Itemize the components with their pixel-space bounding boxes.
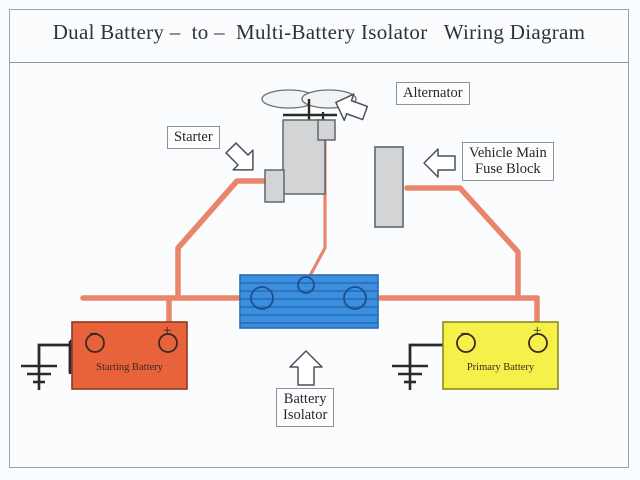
starting-battery-positive-mark: + <box>163 324 171 339</box>
label-fuse-block: Vehicle Main Fuse Block <box>462 142 554 181</box>
alternator-output-terminal <box>318 120 335 140</box>
starting-battery-label: Starting Battery <box>72 362 187 373</box>
wire-fuseblock-to-bus <box>407 188 518 298</box>
label-battery-isolator: Battery Isolator <box>276 388 334 427</box>
label-starter: Starter <box>167 126 220 149</box>
starter-body <box>265 170 284 202</box>
ground-symbol-right <box>392 366 428 390</box>
arrow-starter <box>221 138 263 180</box>
primary-battery-negative-mark: – <box>461 326 469 341</box>
primary-battery-positive-mark: + <box>533 324 541 339</box>
label-alternator: Alternator <box>396 82 470 105</box>
ground-symbol-left <box>21 341 76 390</box>
fuse-block-body <box>375 147 403 227</box>
wiring-diagram-canvas: Dual Battery – to – Multi-Battery Isolat… <box>0 0 640 480</box>
starting-battery-negative-mark: – <box>90 326 98 341</box>
wire-ground-left-lead <box>39 345 72 368</box>
battery-isolator-component <box>240 275 378 328</box>
arrow-fuse-block <box>424 149 455 177</box>
callout-arrows <box>221 89 455 385</box>
wire-ground-right-lead <box>410 345 443 368</box>
arrow-battery-isolator <box>290 351 322 385</box>
primary-battery-label: Primary Battery <box>443 362 558 373</box>
